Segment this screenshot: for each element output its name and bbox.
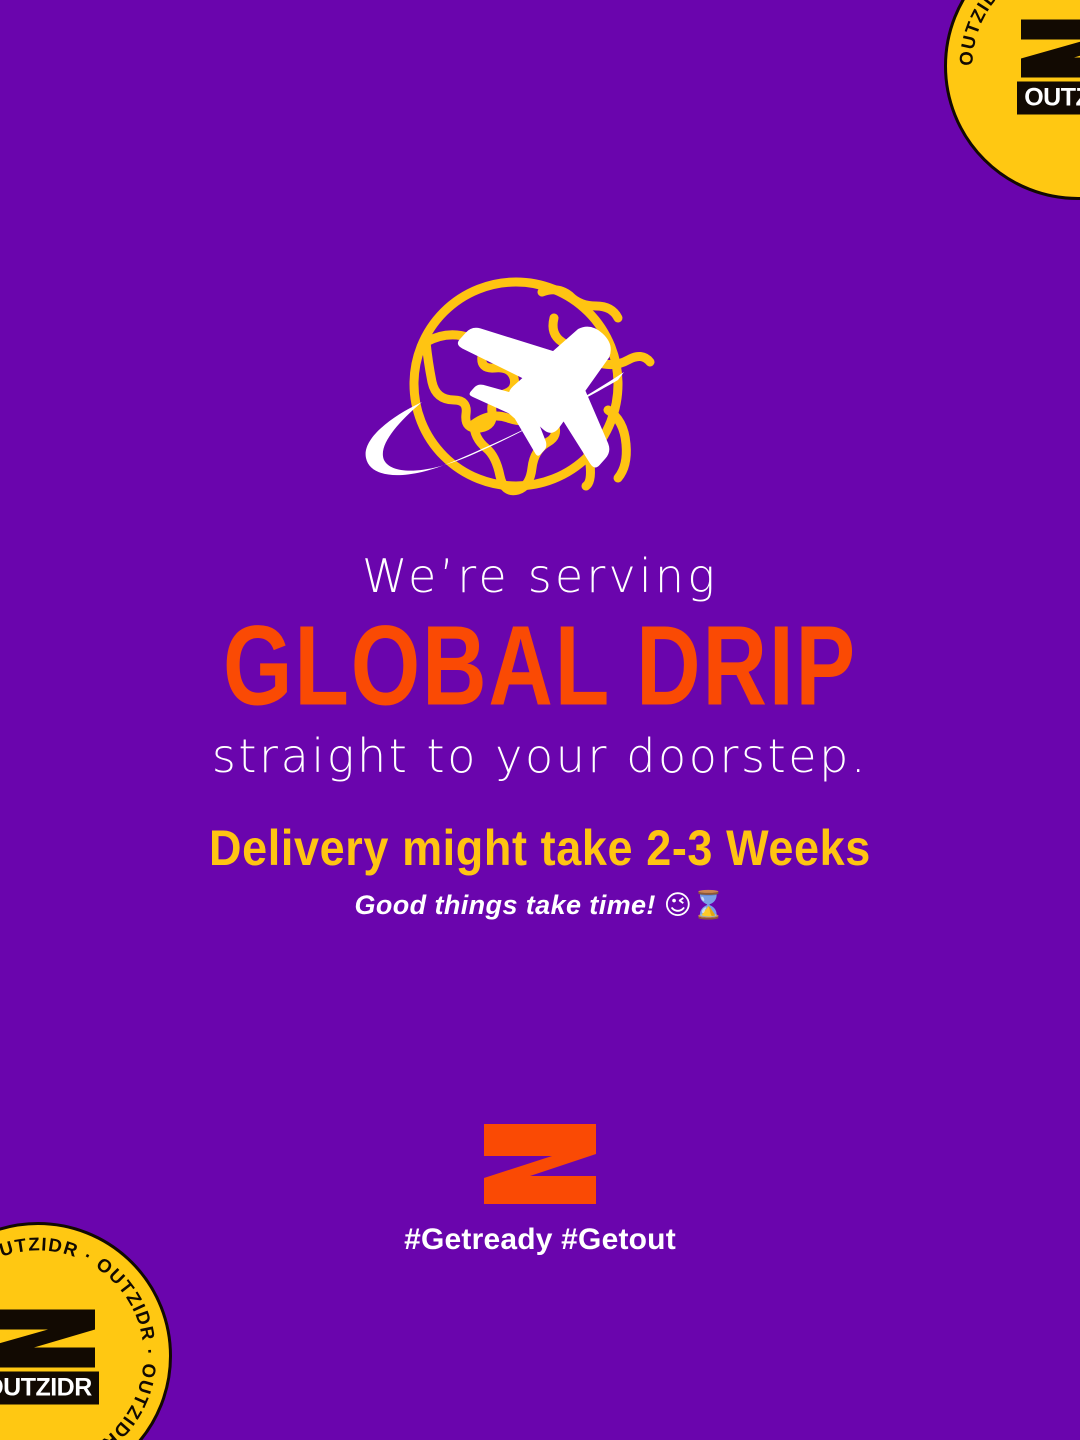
outzidr-badge-top-right: OUTZIDR · OUTZIDR · OUTZIDR · OUTZIDR · …: [944, 0, 1080, 200]
badge-wordmark-bl: OUTZIDR: [0, 1372, 99, 1405]
badge-z-mark-icon-tr: [1018, 18, 1080, 80]
outzidr-z-logo-icon: [478, 1120, 602, 1208]
badge-core-bottom-left: OUTZIDR: [0, 1308, 113, 1405]
serving-line: We’re serving: [0, 548, 1080, 606]
globe-airplane-icon: [356, 272, 724, 512]
delivery-subnote: Good things take time! 😉⌛: [0, 889, 1080, 923]
promo-poster: We’re serving GLOBAL DRIP straight to yo…: [0, 0, 1080, 1440]
badge-core-top-right: OUTZIDR: [1003, 18, 1080, 115]
wink-hourglass-emoji: 😉⌛: [664, 890, 726, 921]
badge-wordmark-tr: OUTZIDR: [1017, 82, 1080, 115]
doorstep-line: straight to your doorstep.: [0, 728, 1080, 786]
delivery-notice-block: Delivery might take 2-3 Weeks Good thing…: [0, 818, 1080, 923]
badge-z-mark-icon-bl: [0, 1308, 98, 1370]
delivery-subnote-text: Good things take time!: [355, 890, 656, 920]
delivery-notice: Delivery might take 2-3 Weeks: [0, 818, 1080, 878]
headline-block: We’re serving GLOBAL DRIP straight to yo…: [0, 548, 1080, 785]
page-title: GLOBAL DRIP: [38, 610, 1042, 723]
outzidr-badge-bottom-left: OUTZIDR · OUTZIDR · OUTZIDR · OUTZIDR · …: [0, 1222, 172, 1440]
